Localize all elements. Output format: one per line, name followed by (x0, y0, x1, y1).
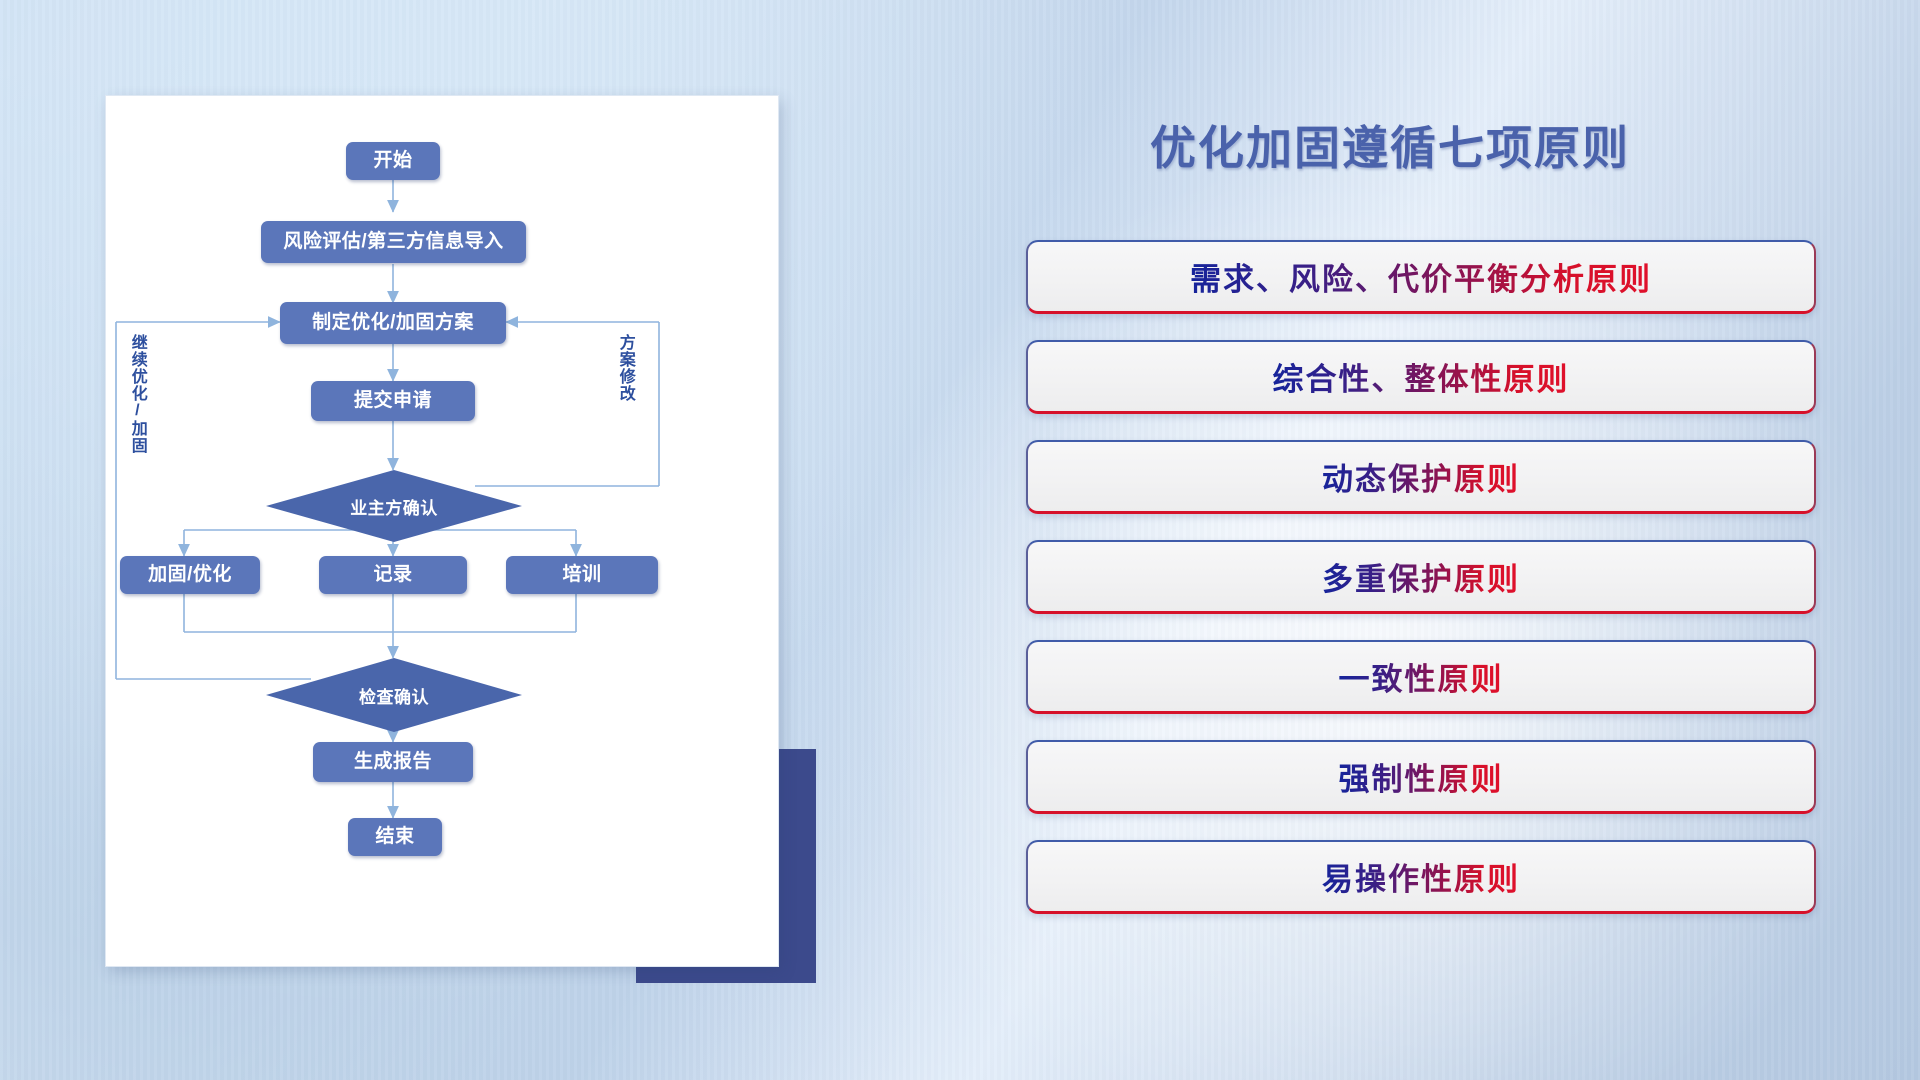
principle-label: 动态保护原则 (1322, 454, 1520, 499)
flow-edge-label-plan-revision: 方案修改 (616, 334, 633, 402)
flow-node-submit-application[interactable]: 提交申请 (311, 381, 475, 421)
principles-list: 需求、风险、代价平衡分析原则 综合性、整体性原则 动态保护原则 多重保护原则 一… (1026, 240, 1816, 940)
principle-label: 需求、风险、代价平衡分析原则 (1190, 254, 1652, 299)
principle-label: 多重保护原则 (1322, 554, 1520, 599)
principle-label: 一致性原则 (1339, 654, 1504, 699)
flowchart-card: 开始 风险评估/第三方信息导入 制定优化/加固方案 提交申请 业主方确认 加固/… (106, 96, 778, 966)
flow-node-record[interactable]: 记录 (319, 556, 467, 594)
principle-label: 综合性、整体性原则 (1273, 354, 1570, 399)
flowchart: 开始 风险评估/第三方信息导入 制定优化/加固方案 提交申请 业主方确认 加固/… (106, 96, 778, 966)
flow-node-start[interactable]: 开始 (346, 142, 440, 180)
principle-label: 易操作性原则 (1322, 854, 1520, 899)
flow-node-training[interactable]: 培训 (506, 556, 658, 594)
flow-node-end[interactable]: 结束 (348, 818, 442, 856)
principle-card[interactable]: 多重保护原则 (1026, 540, 1816, 614)
flow-node-generate-report[interactable]: 生成报告 (313, 742, 473, 782)
slide-canvas: 开始 风险评估/第三方信息导入 制定优化/加固方案 提交申请 业主方确认 加固/… (0, 0, 1920, 1080)
flow-node-reinforce[interactable]: 加固/优化 (120, 556, 260, 594)
principle-card[interactable]: 一致性原则 (1026, 640, 1816, 714)
principle-card[interactable]: 综合性、整体性原则 (1026, 340, 1816, 414)
flow-node-risk-assessment[interactable]: 风险评估/第三方信息导入 (261, 221, 526, 263)
principle-label: 强制性原则 (1339, 754, 1504, 799)
principle-card[interactable]: 易操作性原则 (1026, 840, 1816, 914)
principle-card[interactable]: 强制性原则 (1026, 740, 1816, 814)
flow-edge-label-continue-optimize: 继续优化/加固 (128, 334, 145, 454)
principle-card[interactable]: 需求、风险、代价平衡分析原则 (1026, 240, 1816, 314)
principle-card[interactable]: 动态保护原则 (1026, 440, 1816, 514)
principles-panel-title: 优化加固遵循七项原则 (1150, 112, 1630, 178)
flow-node-plan[interactable]: 制定优化/加固方案 (280, 302, 506, 344)
